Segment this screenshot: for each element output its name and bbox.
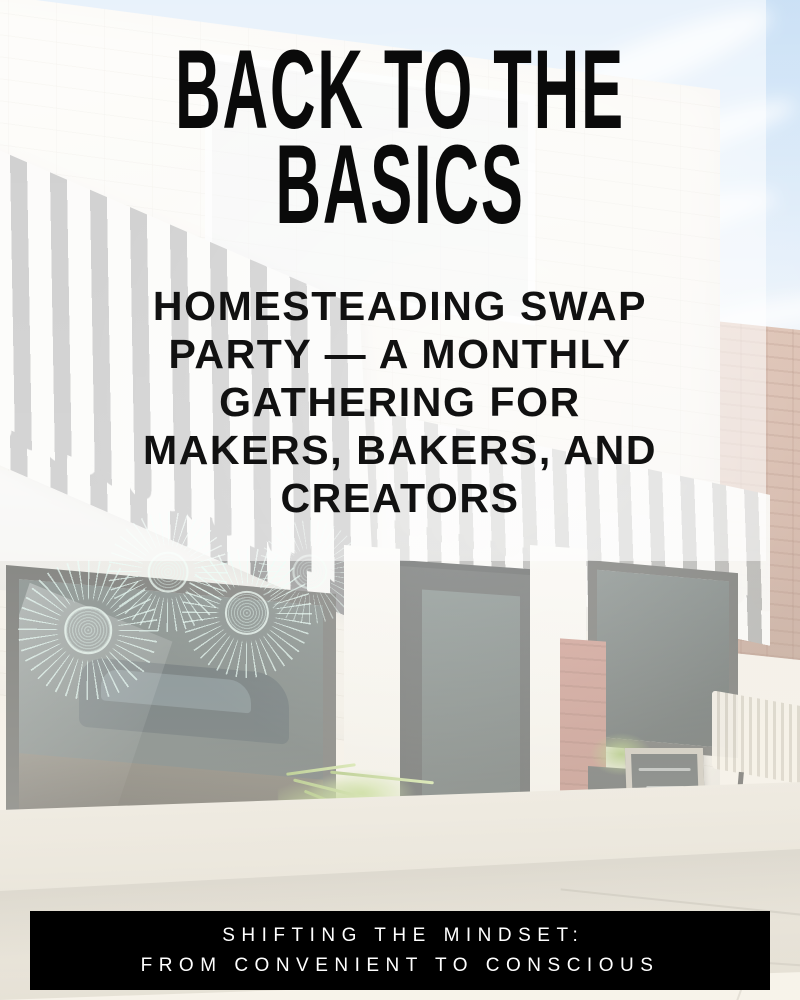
footer-tagline: SHIFTING THE MINDSET: FROM CONVENIENT TO… — [141, 921, 660, 981]
page-title: BACK TO THE BASICS — [174, 42, 626, 232]
poster-canvas: BACK TO THE BASICS HOMESTEADING SWAP PAR… — [0, 0, 800, 1000]
subheadline: HOMESTEADING SWAP PARTY — A MONTHLY GATH… — [92, 282, 708, 522]
footer-banner: SHIFTING THE MINDSET: FROM CONVENIENT TO… — [30, 911, 770, 990]
text-layer: BACK TO THE BASICS HOMESTEADING SWAP PAR… — [0, 0, 800, 1000]
